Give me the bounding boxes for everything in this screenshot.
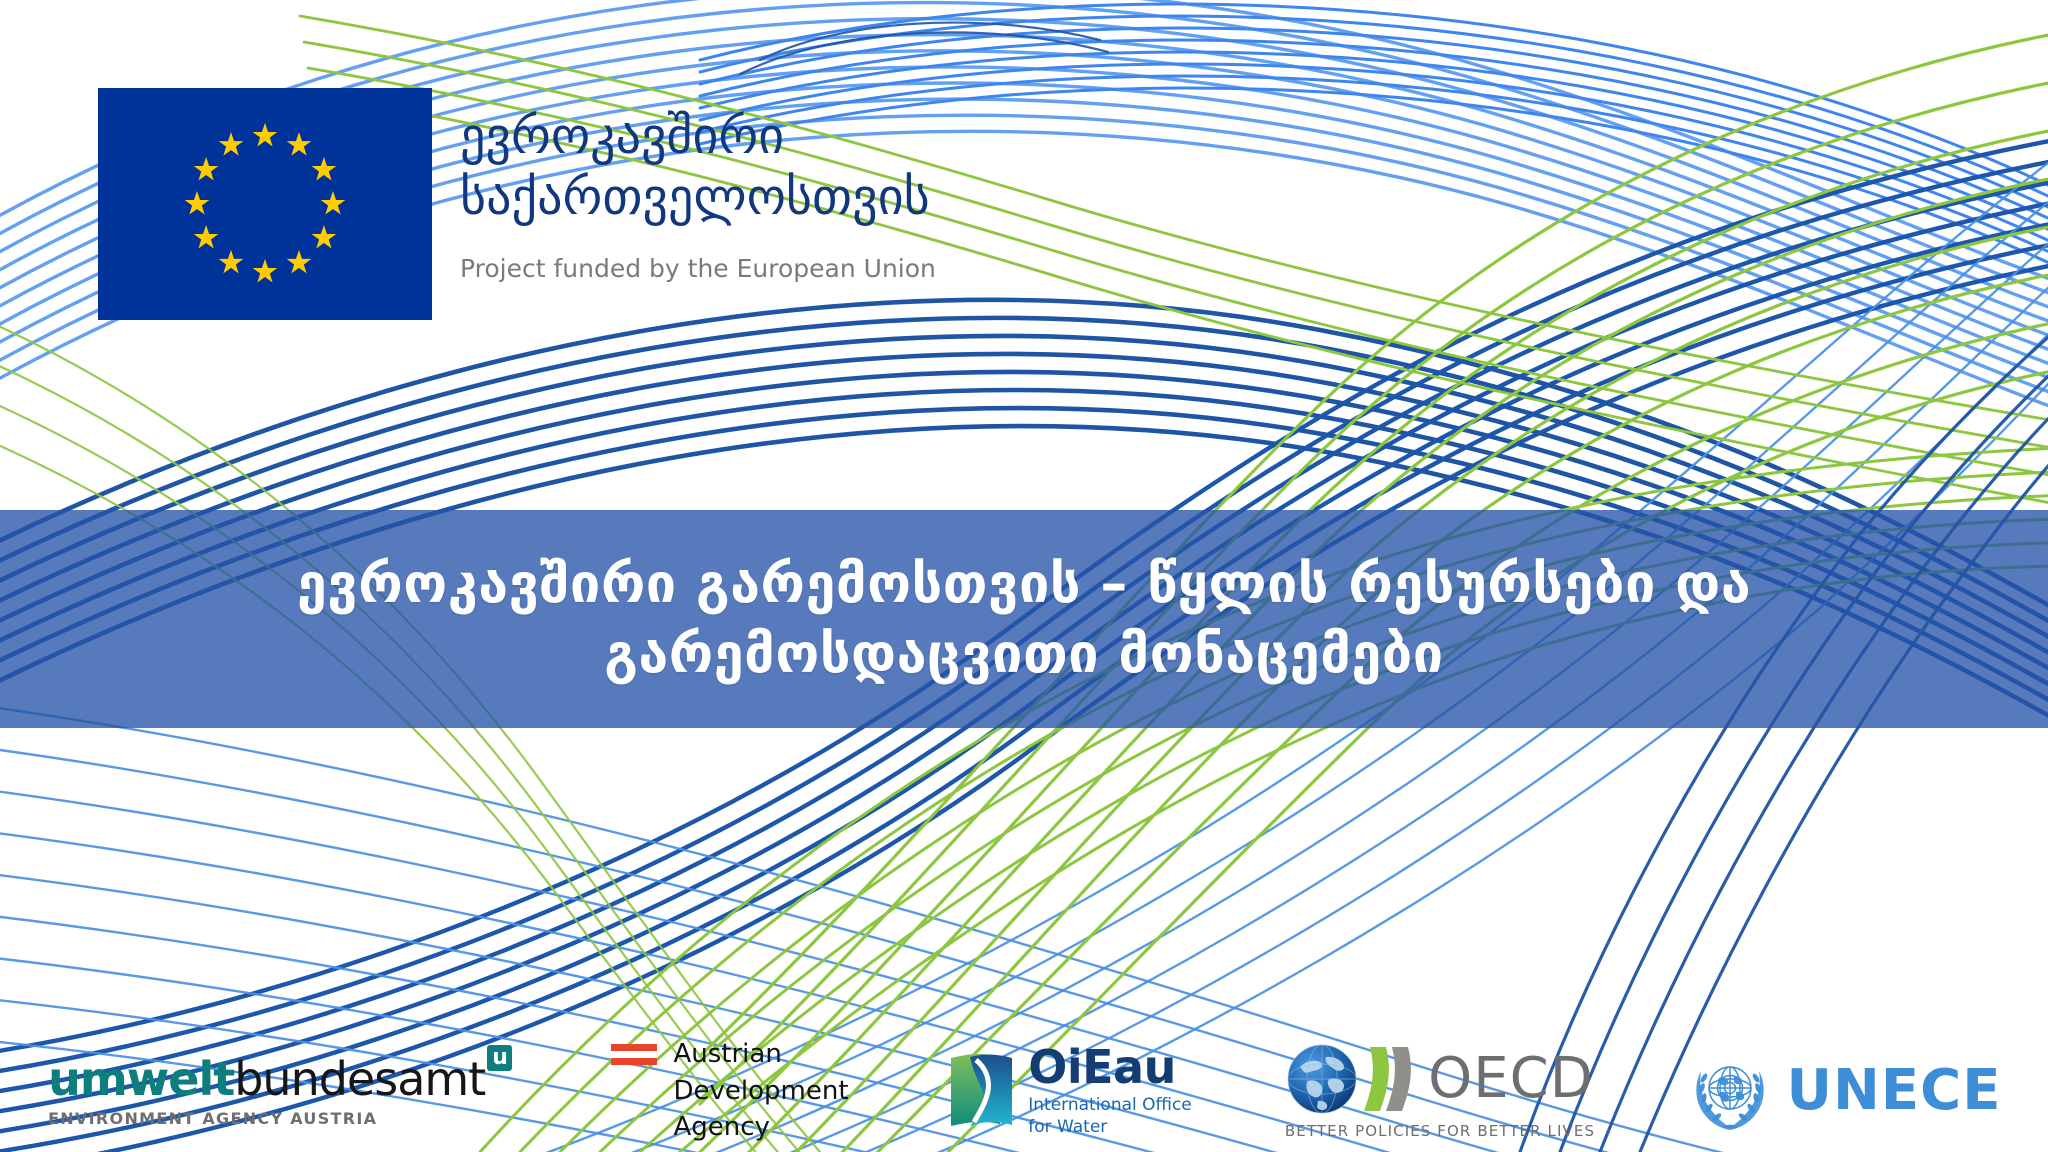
eu-wordmark: ევროკავშირი საქართველოსთვის Project fund… bbox=[460, 88, 936, 283]
umweltbundesamt-word-light: bundesamt bbox=[234, 1052, 485, 1106]
umweltbundesamt-tagline: ENVIRONMENT AGENCY AUSTRIA bbox=[48, 1111, 512, 1127]
eu-funding-subtitle: Project funded by the European Union bbox=[460, 254, 936, 283]
ada-wordmark: Austrian Development Agency bbox=[673, 1036, 848, 1147]
page-title: ევროკავშირი გარემოსთვის – წყლის რესურსებ… bbox=[174, 549, 1874, 689]
oieau-water-mark-icon bbox=[948, 1052, 1016, 1130]
ada-line-2: Development bbox=[673, 1073, 848, 1110]
oecd-chevron-icon bbox=[1360, 1043, 1422, 1115]
ada-line-3: Agency bbox=[673, 1109, 848, 1146]
partner-logo-bar: umweltbundesamtu ENVIRONMENT AGENCY AUST… bbox=[0, 1030, 2048, 1152]
umweltbundesamt-wordmark: umweltbundesamtu bbox=[48, 1056, 512, 1102]
partner-logo-austrian-development-agency: Austrian Development Agency bbox=[560, 1030, 900, 1152]
oieau-subtitle-line-1: International Office bbox=[1028, 1095, 1192, 1116]
oecd-wordmark: OECD bbox=[1428, 1051, 1594, 1107]
unece-wordmark: UNECE bbox=[1787, 1063, 2002, 1119]
umweltbundesamt-superscript-icon: u bbox=[487, 1045, 512, 1071]
eu-flag-icon bbox=[98, 88, 432, 320]
eu-logo: ევროკავშირი საქართველოსთვის Project fund… bbox=[98, 88, 936, 320]
oieau-subtitle-line-2: for Water bbox=[1028, 1117, 1192, 1138]
ada-line-1: Austrian bbox=[673, 1036, 848, 1073]
austria-flag-icon bbox=[611, 1044, 657, 1065]
page-title-line-1: ევროკავშირი გარემოსთვის – წყლის რესურსებ… bbox=[174, 549, 1874, 619]
page-title-line-2: გარემოსდაცვითი მონაცემები bbox=[174, 619, 1874, 689]
partner-logo-oieau: OiEau International Office for Water bbox=[900, 1030, 1240, 1152]
un-emblem-icon bbox=[1687, 1048, 1773, 1134]
umweltbundesamt-word-bold: umwelt bbox=[48, 1052, 234, 1106]
partner-logo-oecd: OECD BETTER POLICIES FOR BETTER LIVES bbox=[1240, 1030, 1640, 1152]
slide-canvas: ევროკავშირი საქართველოსთვის Project fund… bbox=[0, 0, 2048, 1152]
oecd-globe-icon bbox=[1286, 1043, 1358, 1115]
partner-logo-unece: UNECE bbox=[1640, 1030, 2048, 1152]
eu-wordmark-line-1: ევროკავშირი bbox=[460, 106, 936, 167]
oieau-wordmark: OiEau bbox=[1028, 1044, 1192, 1090]
eu-wordmark-line-2: საქართველოსთვის bbox=[460, 167, 936, 228]
title-band: ევროკავშირი გარემოსთვის – წყლის რესურსებ… bbox=[0, 510, 2048, 728]
oecd-tagline: BETTER POLICIES FOR BETTER LIVES bbox=[1285, 1122, 1595, 1140]
partner-logo-umweltbundesamt: umweltbundesamtu ENVIRONMENT AGENCY AUST… bbox=[0, 1030, 560, 1152]
